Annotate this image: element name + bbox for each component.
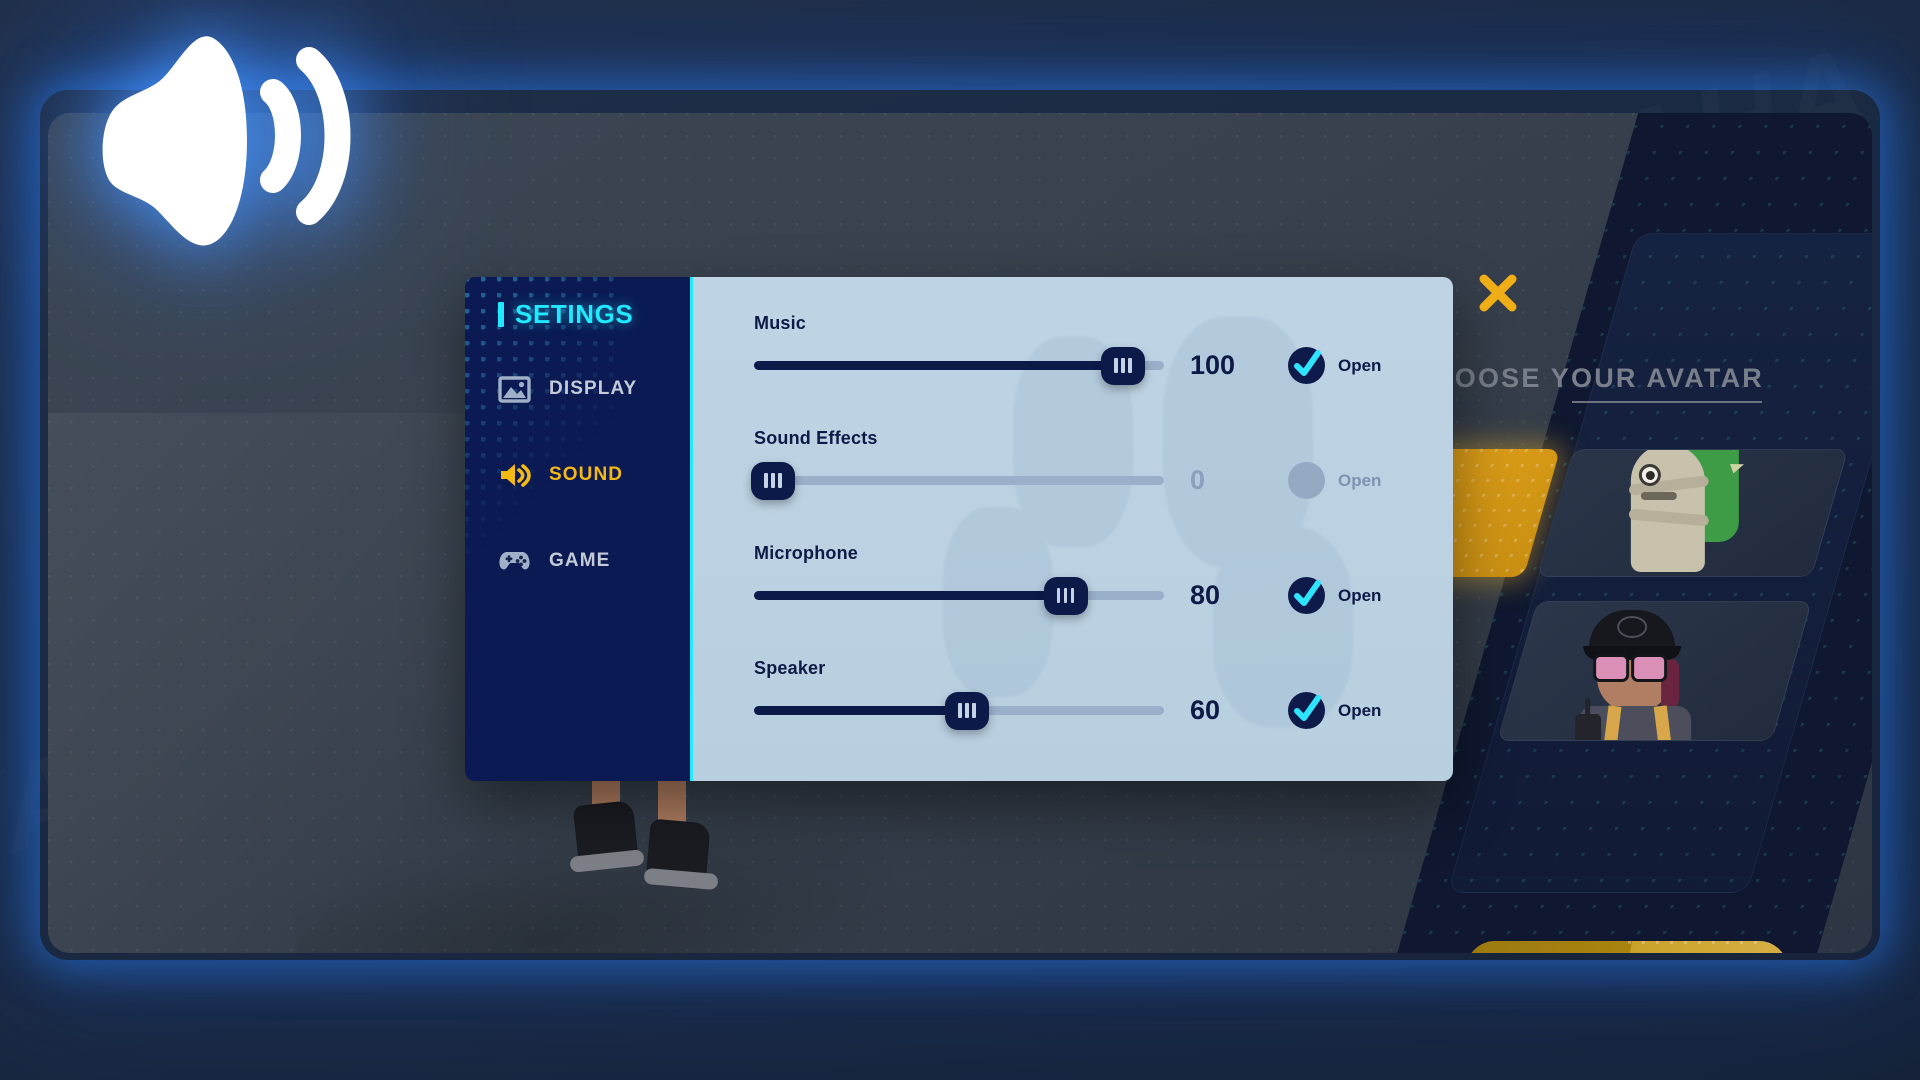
setting-row-sound-effects: Sound Effects 0 Open (754, 428, 1453, 499)
sidebar-item-display[interactable]: DISPLAY (498, 367, 637, 411)
setting-label: Sound Effects (754, 428, 1453, 449)
check-icon (1288, 462, 1325, 499)
check-icon (1288, 347, 1325, 384)
page-title: SETINGS (515, 299, 633, 330)
avatar-card-woman[interactable] (1497, 601, 1812, 741)
toggle-label: Open (1338, 586, 1381, 606)
settings-title-row: SETINGS (498, 299, 633, 330)
sidebar-item-label: GAME (549, 550, 610, 572)
sound-effects-toggle[interactable]: Open (1288, 462, 1381, 499)
check-icon (1288, 577, 1325, 614)
microphone-value: 80 (1190, 580, 1268, 611)
music-toggle[interactable]: Open (1288, 347, 1381, 384)
setting-row-speaker: Speaker 60 Open (754, 658, 1453, 729)
slider-fill (754, 361, 1123, 370)
speaker-volume-icon (95, 30, 385, 250)
slider-fill (754, 591, 1066, 600)
sidebar-item-game[interactable]: GAME (498, 539, 610, 583)
setting-row-music: Music 100 Open (754, 313, 1453, 384)
close-icon[interactable] (1477, 272, 1519, 314)
microphone-slider[interactable] (754, 583, 1164, 609)
check-icon (1288, 692, 1325, 729)
sidebar-item-sound[interactable]: SOUND (498, 453, 623, 497)
speaker-slider[interactable] (754, 698, 1164, 724)
slider-fill (754, 706, 967, 715)
slider-thumb[interactable] (945, 692, 989, 730)
sidebar-item-label: SOUND (549, 464, 623, 486)
setting-label: Music (754, 313, 1453, 334)
setting-label: Microphone (754, 543, 1453, 564)
image-icon (498, 375, 531, 403)
slider-thumb[interactable] (751, 462, 795, 500)
toggle-label: Open (1338, 471, 1381, 491)
settings-content: Music 100 Open (693, 277, 1453, 781)
music-value: 100 (1190, 350, 1268, 381)
avatar-card-mummy[interactable] (1537, 449, 1849, 577)
slider-track (754, 476, 1164, 485)
speaker-value: 60 (1190, 695, 1268, 726)
microphone-toggle[interactable]: Open (1288, 577, 1381, 614)
toggle-label: Open (1338, 356, 1381, 376)
woman-avatar-art (1553, 606, 1713, 741)
speaker-toggle[interactable]: Open (1288, 692, 1381, 729)
sound-effects-slider[interactable] (754, 468, 1164, 494)
slider-thumb[interactable] (1101, 347, 1145, 385)
toggle-label: Open (1338, 701, 1381, 721)
slider-thumb[interactable] (1044, 577, 1088, 615)
settings-dialog: SETINGS DISPLAY (465, 277, 1453, 781)
continue-button[interactable]: CONTINUE (1466, 941, 1788, 953)
setting-label: Speaker (754, 658, 1453, 679)
speaker-icon (498, 461, 531, 489)
setting-row-microphone: Microphone 80 Open (754, 543, 1453, 614)
title-underline (1572, 401, 1762, 403)
sound-effects-value: 0 (1190, 465, 1268, 496)
settings-sidebar: SETINGS DISPLAY (465, 277, 693, 781)
app-stage: YAHAHA YAHAHA YAHAHA YAHAHA YAHAHA (0, 0, 1920, 1080)
music-slider[interactable] (754, 353, 1164, 379)
choose-your-avatar-title: CHOOSE YOUR AVATAR (1411, 363, 1764, 394)
mummy-cactus-art (1613, 449, 1733, 577)
watermark-text: YAHAHA (771, 0, 1537, 20)
sidebar-item-label: DISPLAY (549, 378, 637, 400)
gamepad-icon (498, 547, 531, 575)
title-accent-bar (498, 302, 504, 327)
